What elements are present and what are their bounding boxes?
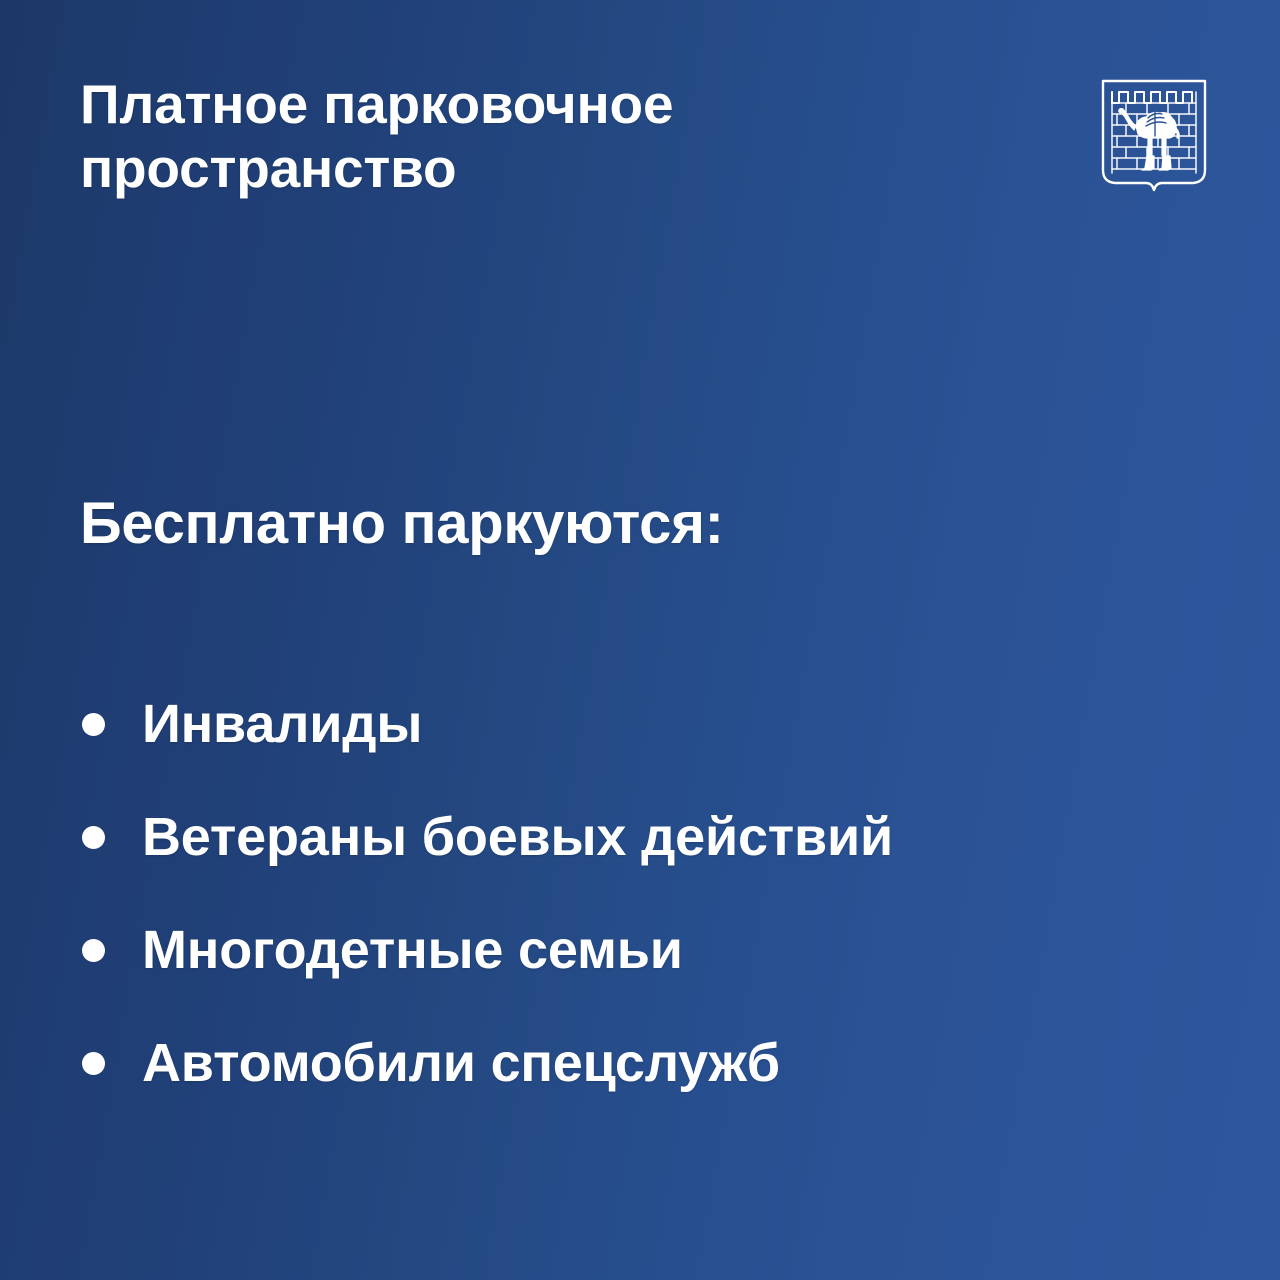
list-item-label: Ветераны боевых действий: [142, 809, 893, 866]
free-parking-benefits-list: Инвалиды Ветераны боевых действий Многод…: [80, 668, 1200, 1120]
list-item: Инвалиды: [80, 668, 1200, 781]
bullet-dot-icon: [82, 713, 105, 736]
slide-header: Платное парковочное пространство: [80, 72, 1060, 201]
list-item-label: Многодетные семьи: [142, 922, 683, 979]
list-item-label: Автомобили спецслужб: [142, 1035, 780, 1092]
bullet-dot-icon: [82, 826, 105, 849]
list-item: Автомобили спецслужб: [80, 1007, 1200, 1120]
bullet-dot-icon: [82, 1052, 105, 1075]
section-heading: Бесплатно паркуются:: [80, 492, 724, 556]
list-item: Ветераны боевых действий: [80, 781, 1200, 894]
list-item: Многодетные семьи: [80, 894, 1200, 1007]
bullet-dot-icon: [82, 939, 105, 962]
page-title: Платное парковочное пространство: [80, 72, 1060, 201]
coat-of-arms-chelyabinsk-icon: [1100, 78, 1208, 206]
parking-info-slide: Платное парковочное пространство: [0, 0, 1280, 1280]
list-item-label: Инвалиды: [142, 696, 422, 753]
